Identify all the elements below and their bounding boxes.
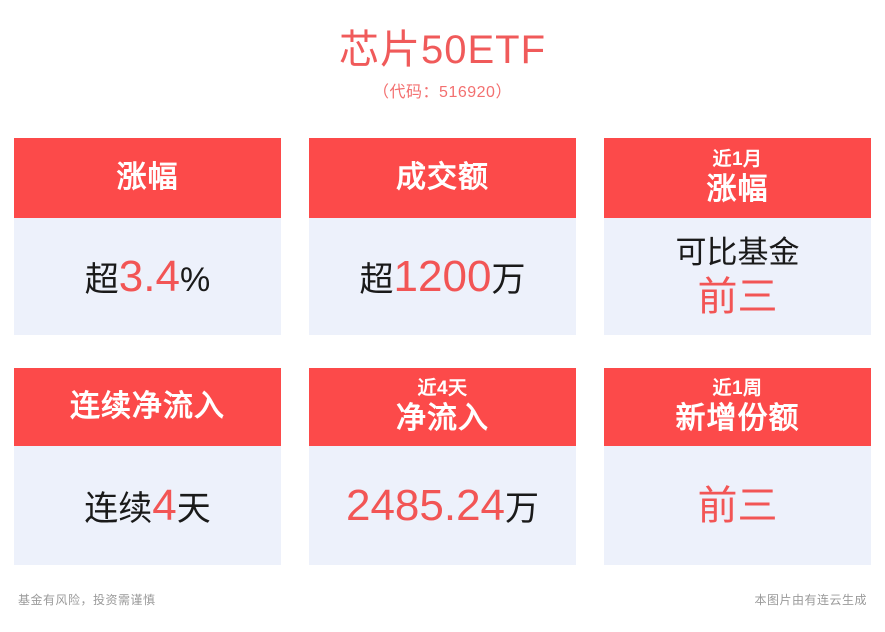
metric-value-text: 万 — [505, 488, 539, 530]
metric-value-text: 连续 — [84, 488, 152, 530]
metric-value-line: 前三 — [698, 482, 778, 530]
metric-value-text: 天 — [177, 488, 211, 530]
metric-card-subtitle: 近1月 — [712, 148, 762, 172]
metric-card-title: 涨幅 — [707, 172, 769, 208]
metric-card-header: 成交额 — [309, 138, 576, 218]
metric-value-stack: 超1200万 — [360, 251, 526, 303]
metric-card-subtitle: 近1周 — [712, 377, 762, 401]
metric-value-line: 前三 — [698, 273, 778, 321]
metric-card-title: 涨幅 — [117, 160, 179, 196]
metric-card-title: 连续净流入 — [70, 389, 225, 425]
metric-value-stack: 超3.4% — [85, 251, 210, 303]
metric-card-body: 前三 — [604, 446, 871, 565]
metric-card-subtitle: 近4天 — [417, 377, 467, 401]
metric-card-title: 成交额 — [396, 160, 489, 196]
metric-value-highlight: 前三 — [698, 273, 778, 321]
metric-card-grid: 涨幅超3.4%成交额超1200万近1月涨幅可比基金前三连续净流入连续4天近4天净… — [14, 138, 871, 565]
metric-card-body: 2485.24万 — [309, 446, 576, 565]
footer: 基金有风险，投资需谨慎 本图片由有连云生成 — [0, 591, 885, 609]
metric-value-highlight: 3.4 — [119, 251, 180, 303]
metric-card-title: 净流入 — [396, 401, 489, 437]
metric-card-body: 可比基金前三 — [604, 218, 871, 335]
metric-card-header: 连续净流入 — [14, 368, 281, 446]
metric-value-highlight: 1200 — [394, 251, 492, 303]
metric-card-header: 涨幅 — [14, 138, 281, 218]
image-source-note: 本图片由有连云生成 — [754, 591, 867, 609]
metric-card-header: 近4天净流入 — [309, 368, 576, 446]
metric-value-text: 超 — [360, 259, 394, 301]
metric-card-header: 近1周新增份额 — [604, 368, 871, 446]
metric-value-highlight: 前三 — [698, 482, 778, 530]
metric-value-highlight: 2485.24 — [346, 480, 505, 532]
fund-code: （代码：516920） — [0, 83, 885, 103]
page-title: 芯片50ETF — [0, 26, 885, 74]
metric-value-text: % — [180, 259, 210, 301]
metric-card-net-inflow-days: 连续净流入连续4天 — [14, 368, 281, 565]
metric-value-line: 连续4天 — [84, 480, 210, 532]
metric-value-line: 超3.4% — [85, 251, 210, 303]
metric-card-title: 新增份额 — [676, 401, 800, 437]
metric-value-highlight: 4 — [152, 480, 176, 532]
metric-value-stack: 2485.24万 — [346, 480, 539, 532]
metric-value-text: 可比基金 — [676, 233, 800, 273]
metric-card-body: 连续4天 — [14, 446, 281, 565]
metric-card-turnover: 成交额超1200万 — [309, 138, 576, 335]
metric-value-stack: 可比基金前三 — [676, 233, 800, 321]
metric-value-stack: 连续4天 — [84, 480, 210, 532]
metric-card-gain: 涨幅超3.4% — [14, 138, 281, 335]
metric-value-text: 万 — [491, 259, 525, 301]
metric-value-text: 超 — [85, 259, 119, 301]
poster-header: 芯片50ETF （代码：516920） — [0, 0, 885, 103]
metric-value-line: 可比基金 — [676, 233, 800, 273]
metric-value-line: 2485.24万 — [346, 480, 539, 532]
risk-disclaimer: 基金有风险，投资需谨慎 — [18, 591, 156, 609]
metric-card-net-inflow-amount: 近4天净流入2485.24万 — [309, 368, 576, 565]
metric-card-header: 近1月涨幅 — [604, 138, 871, 218]
metric-card-body: 超3.4% — [14, 218, 281, 335]
metric-card-body: 超1200万 — [309, 218, 576, 335]
metric-card-month-gain: 近1月涨幅可比基金前三 — [604, 138, 871, 335]
metric-card-new-shares: 近1周新增份额前三 — [604, 368, 871, 565]
metric-value-stack: 前三 — [698, 482, 778, 530]
poster-page: 芯片50ETF （代码：516920） 涨幅超3.4%成交额超1200万近1月涨… — [0, 0, 885, 632]
metric-value-line: 超1200万 — [360, 251, 526, 303]
